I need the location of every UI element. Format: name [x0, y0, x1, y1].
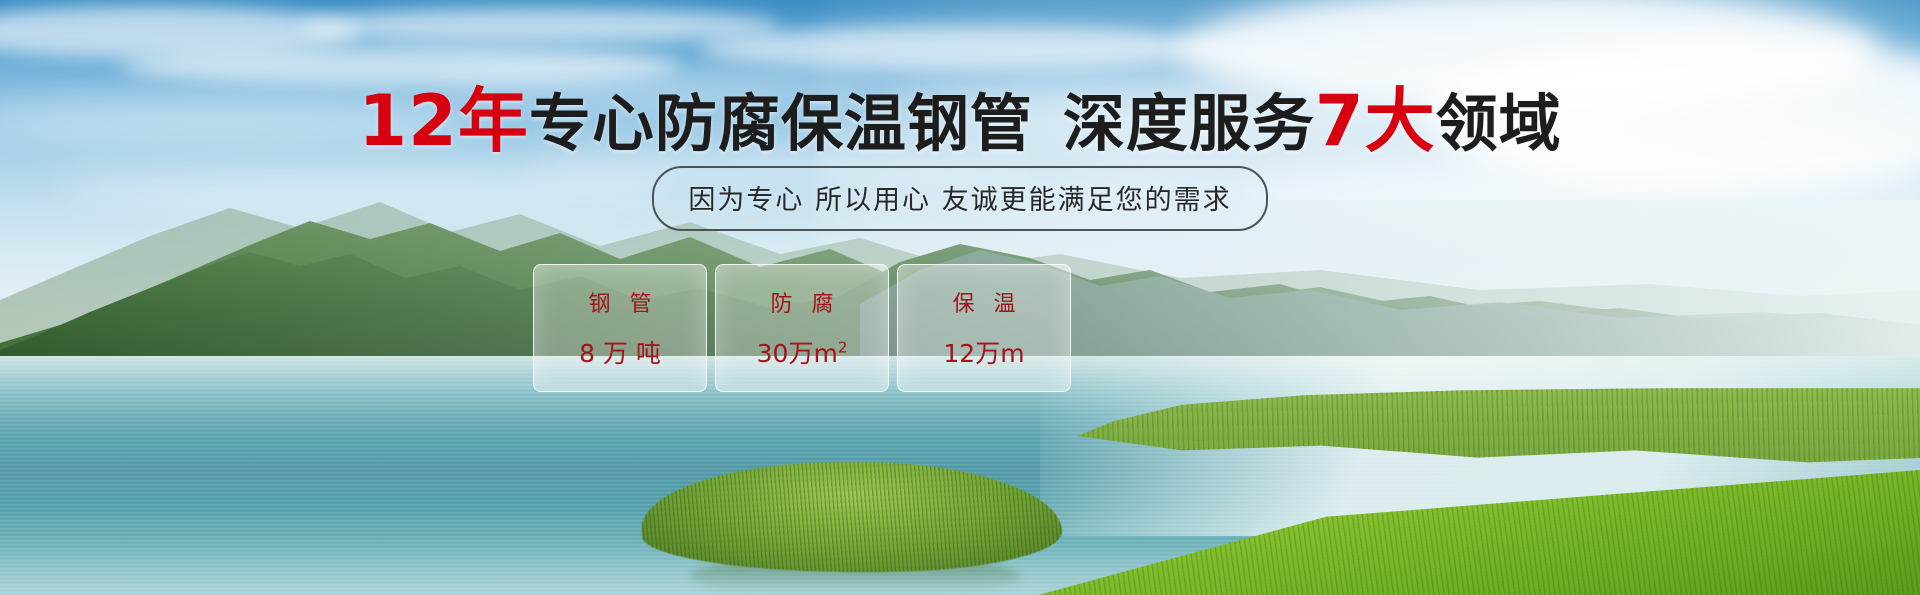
headline-lead-text: 专心防腐保温钢管 [529, 87, 1033, 160]
stat-card-label: 防 腐 [765, 286, 840, 318]
headline-highlight-unit: 大 [1365, 80, 1436, 162]
banner-subline: 因为专心 所以用心 友诚更能满足您的需求 [652, 166, 1267, 231]
stat-card-value-text: 12万m [943, 339, 1024, 368]
banner-subline-wrapper: 因为专心 所以用心 友诚更能满足您的需求 [0, 166, 1920, 231]
stat-card-value-superscript: 2 [838, 339, 848, 357]
headline-service-text: 深度服务 [1063, 87, 1315, 160]
stat-card-value: 8 万 吨 [579, 334, 661, 370]
headline-tail-text: 领域 [1436, 87, 1562, 160]
banner-content: 12年专心防腐保温钢管深度服务7大领域 因为专心 所以用心 友诚更能满足您的需求… [0, 0, 1920, 595]
stat-card-steel-pipe: 钢 管 8 万 吨 [533, 264, 707, 392]
stat-card-list: 钢 管 8 万 吨 防 腐 30万m2 保 温 12万m [533, 264, 1071, 392]
stat-card-insulation: 保 温 12万m [897, 264, 1071, 392]
promo-banner: 12年专心防腐保温钢管深度服务7大领域 因为专心 所以用心 友诚更能满足您的需求… [0, 0, 1920, 595]
headline-years-number: 12 [358, 80, 457, 162]
banner-headline: 12年专心防腐保温钢管深度服务7大领域 [0, 86, 1920, 156]
headline-years-unit: 年 [458, 80, 529, 162]
stat-card-value: 12万m [943, 334, 1024, 370]
stat-card-label: 钢 管 [583, 286, 658, 318]
stat-card-value-text: 30万m [757, 339, 838, 368]
stat-card-label: 保 温 [947, 286, 1022, 318]
stat-card-value-text: 8 万 吨 [579, 339, 661, 368]
stat-card-value: 30万m2 [757, 334, 848, 370]
stat-card-anticorrosion: 防 腐 30万m2 [715, 264, 889, 392]
headline-highlight-number: 7 [1315, 80, 1365, 162]
